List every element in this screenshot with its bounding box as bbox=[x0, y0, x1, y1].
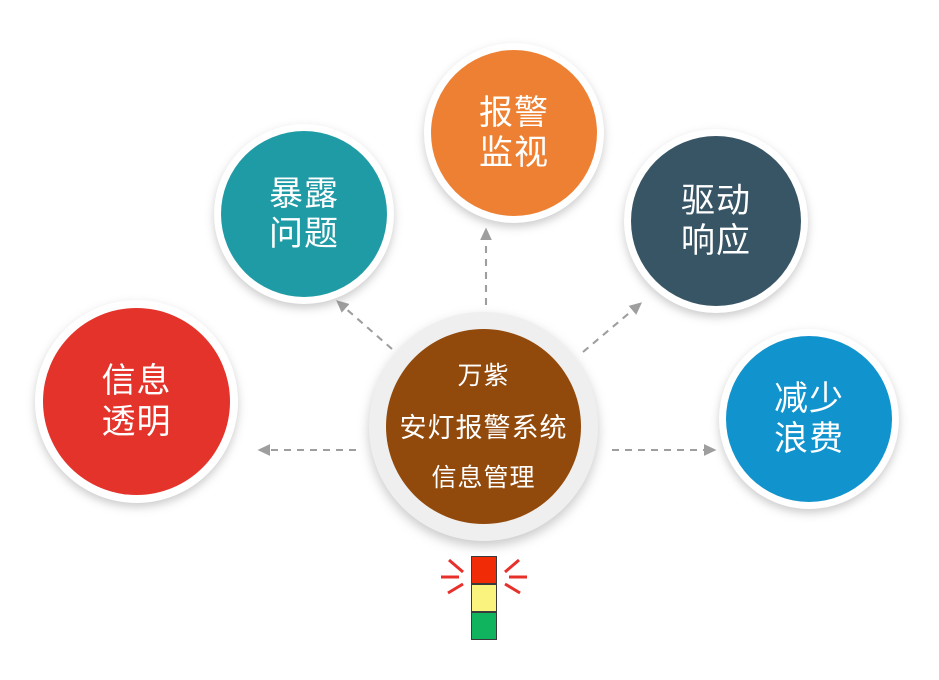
center-node-label: 万紫 安灯报警系统 信息管理 bbox=[400, 329, 568, 524]
andon-lamp-red bbox=[471, 556, 497, 584]
center-line-1: 万紫 bbox=[400, 364, 568, 389]
node-information-transparency-label: 信息 透明 bbox=[102, 361, 172, 441]
node-drive-response[interactable]: 驱动 响应 bbox=[624, 129, 808, 313]
andon-lamp-green bbox=[471, 612, 497, 640]
center-node-disc: 万紫 安灯报警系统 信息管理 bbox=[386, 329, 581, 524]
node-reduce-waste-label: 减少 浪费 bbox=[774, 379, 844, 459]
center-line-2: 安灯报警系统 bbox=[400, 415, 568, 442]
node-drive-response-disc: 驱动 响应 bbox=[631, 136, 801, 306]
node-alarm-monitoring-label: 报警 监视 bbox=[479, 93, 549, 173]
node-information-transparency[interactable]: 信息 透明 bbox=[35, 300, 238, 503]
node-alarm-monitoring-disc: 报警 监视 bbox=[431, 50, 597, 216]
node-expose-problems[interactable]: 暴露 问题 bbox=[214, 124, 394, 304]
center-node[interactable]: 万紫 安灯报警系统 信息管理 bbox=[369, 312, 598, 541]
andon-light-tower-icon bbox=[465, 556, 503, 642]
node-reduce-waste-disc: 减少 浪费 bbox=[726, 336, 892, 502]
node-alarm-monitoring[interactable]: 报警 监视 bbox=[424, 43, 604, 223]
node-expose-problems-label: 暴露 问题 bbox=[269, 174, 339, 254]
connector-center-to-drive-response bbox=[583, 309, 634, 352]
diagram-canvas: 暴露 问题 报警 监视 驱动 响应 信息 透明 bbox=[0, 0, 939, 680]
center-line-3: 信息管理 bbox=[400, 466, 568, 491]
node-reduce-waste[interactable]: 减少 浪费 bbox=[719, 329, 899, 509]
node-expose-problems-disc: 暴露 问题 bbox=[221, 131, 387, 297]
node-information-transparency-disc: 信息 透明 bbox=[43, 308, 230, 495]
andon-lamp-yellow bbox=[471, 584, 497, 612]
connector-center-to-expose-problems bbox=[344, 307, 392, 349]
node-drive-response-label: 驱动 响应 bbox=[681, 181, 751, 261]
